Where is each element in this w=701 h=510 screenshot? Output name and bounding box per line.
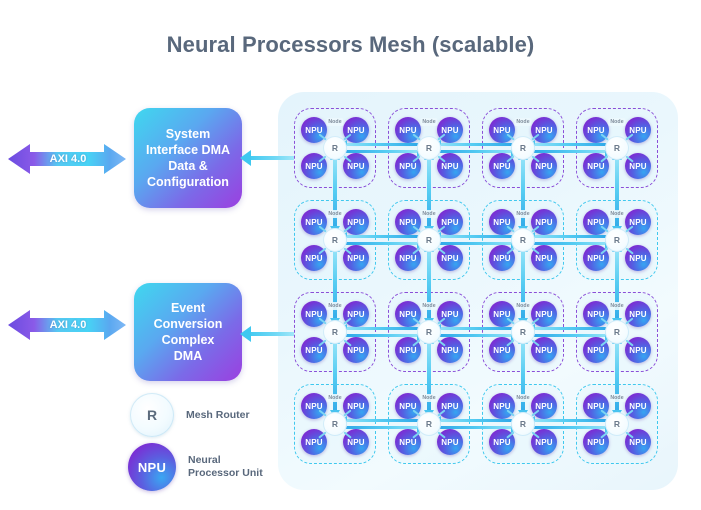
axi-bus-arrow-top: AXI 4.0 <box>8 139 126 179</box>
mesh-router[interactable]: R <box>323 136 347 160</box>
mesh-panel: NPUNPUNPUNPUNodeRNPUNPUNPUNPUNodeRNPUNPU… <box>278 92 678 490</box>
mesh-link-horizontal <box>439 150 513 153</box>
event-conversion-dma-block[interactable]: EventConversionComplexDMA <box>134 283 242 381</box>
mesh-link-vertical <box>615 250 618 324</box>
diagram-canvas: Neural Processors Mesh (scalable) AXI 4.… <box>0 0 701 510</box>
mesh-node-label: Node <box>608 210 625 218</box>
mesh-router[interactable]: R <box>323 412 347 436</box>
mesh-link-horizontal <box>439 419 513 422</box>
mesh-node-label: Node <box>514 394 531 402</box>
npu-unit[interactable]: NPU <box>625 301 651 327</box>
mesh-link-horizontal <box>533 327 607 330</box>
mesh-link-horizontal <box>439 235 513 238</box>
mesh-node[interactable]: NPUNPUNPUNPUNodeR <box>482 384 564 464</box>
mesh-router[interactable]: R <box>417 228 441 252</box>
legend-label-npu: NeuralProcessor Unit <box>188 454 263 480</box>
mesh-to-event-dma-link <box>246 332 294 336</box>
mesh-link-horizontal <box>439 242 513 245</box>
mesh-link-horizontal <box>533 143 607 146</box>
mesh-node-label: Node <box>608 118 625 126</box>
mesh-node-label: Node <box>514 302 531 310</box>
mesh-router[interactable]: R <box>605 412 629 436</box>
mesh-node-label: Node <box>514 118 531 126</box>
mesh-router[interactable]: R <box>605 136 629 160</box>
mesh-node[interactable]: NPUNPUNPUNPUNodeR <box>294 384 376 464</box>
mesh-link-horizontal <box>439 143 513 146</box>
mesh-link-horizontal <box>345 426 419 429</box>
legend-item-mesh-router: R Mesh Router <box>130 393 250 437</box>
mesh-link-vertical <box>615 342 618 416</box>
mesh-link-horizontal <box>533 150 607 153</box>
mesh-link-horizontal <box>533 419 607 422</box>
mesh-link-horizontal <box>439 426 513 429</box>
mesh-node-label: Node <box>326 394 343 402</box>
mesh-router[interactable]: R <box>605 228 629 252</box>
mesh-node-label: Node <box>420 118 437 126</box>
mesh-link-horizontal <box>345 327 419 330</box>
mesh-link-vertical <box>333 250 336 324</box>
mesh-link-vertical <box>427 342 430 416</box>
system-interface-dma-label: SystemInterface DMAData &Configuration <box>140 126 236 190</box>
npu-unit[interactable]: NPU <box>625 209 651 235</box>
mesh-router[interactable]: R <box>323 228 347 252</box>
mesh-router[interactable]: R <box>605 320 629 344</box>
mesh-node-label: Node <box>420 210 437 218</box>
legend-label-mesh-router: Mesh Router <box>186 409 250 422</box>
mesh-to-event-dma-arrowhead-icon <box>240 326 251 342</box>
mesh-link-horizontal <box>345 334 419 337</box>
mesh-node[interactable]: NPUNPUNPUNPUNodeR <box>388 384 470 464</box>
mesh-link-horizontal <box>439 334 513 337</box>
mesh-router[interactable]: R <box>417 320 441 344</box>
mesh-router[interactable]: R <box>323 320 347 344</box>
mesh-router[interactable]: R <box>511 136 535 160</box>
npu-unit[interactable]: NPU <box>625 393 651 419</box>
mesh-link-vertical <box>521 250 524 324</box>
mesh-link-vertical <box>521 158 524 232</box>
axi-bus-label-bottom: AXI 4.0 <box>8 305 126 345</box>
mesh-router[interactable]: R <box>511 412 535 436</box>
mesh-router[interactable]: R <box>511 228 535 252</box>
event-conversion-dma-label: EventConversionComplexDMA <box>148 300 229 364</box>
mesh-to-system-dma-link <box>246 156 294 160</box>
mesh-node-label: Node <box>420 394 437 402</box>
mesh-router[interactable]: R <box>417 136 441 160</box>
legend-item-npu: NPU NeuralProcessor Unit <box>128 443 263 491</box>
mesh-router[interactable]: R <box>511 320 535 344</box>
mesh-node-label: Node <box>514 210 531 218</box>
mesh-link-horizontal <box>533 334 607 337</box>
npu-icon: NPU <box>128 443 176 491</box>
axi-bus-arrow-bottom: AXI 4.0 <box>8 305 126 345</box>
mesh-node-label: Node <box>326 210 343 218</box>
mesh-link-horizontal <box>345 235 419 238</box>
mesh-link-horizontal <box>533 235 607 238</box>
npu-unit[interactable]: NPU <box>625 117 651 143</box>
mesh-link-vertical <box>333 158 336 232</box>
mesh-link-horizontal <box>345 143 419 146</box>
mesh-node-label: Node <box>326 118 343 126</box>
axi-bus-label-top: AXI 4.0 <box>8 139 126 179</box>
mesh-node-label: Node <box>608 394 625 402</box>
mesh-link-vertical <box>615 158 618 232</box>
mesh-link-horizontal <box>345 150 419 153</box>
mesh-router[interactable]: R <box>417 412 441 436</box>
mesh-link-horizontal <box>345 242 419 245</box>
mesh-node-label: Node <box>326 302 343 310</box>
mesh-link-vertical <box>521 342 524 416</box>
mesh-link-horizontal <box>439 327 513 330</box>
mesh-link-vertical <box>427 250 430 324</box>
mesh-node[interactable]: NPUNPUNPUNPUNodeR <box>576 384 658 464</box>
mesh-link-horizontal <box>345 419 419 422</box>
mesh-node-label: Node <box>608 302 625 310</box>
mesh-link-vertical <box>427 158 430 232</box>
page-title: Neural Processors Mesh (scalable) <box>0 32 701 58</box>
router-icon: R <box>130 393 174 437</box>
system-interface-dma-block[interactable]: SystemInterface DMAData &Configuration <box>134 108 242 208</box>
mesh-link-horizontal <box>533 426 607 429</box>
mesh-link-horizontal <box>533 242 607 245</box>
mesh-node-label: Node <box>420 302 437 310</box>
mesh-link-vertical <box>333 342 336 416</box>
mesh-to-system-dma-arrowhead-icon <box>240 150 251 166</box>
